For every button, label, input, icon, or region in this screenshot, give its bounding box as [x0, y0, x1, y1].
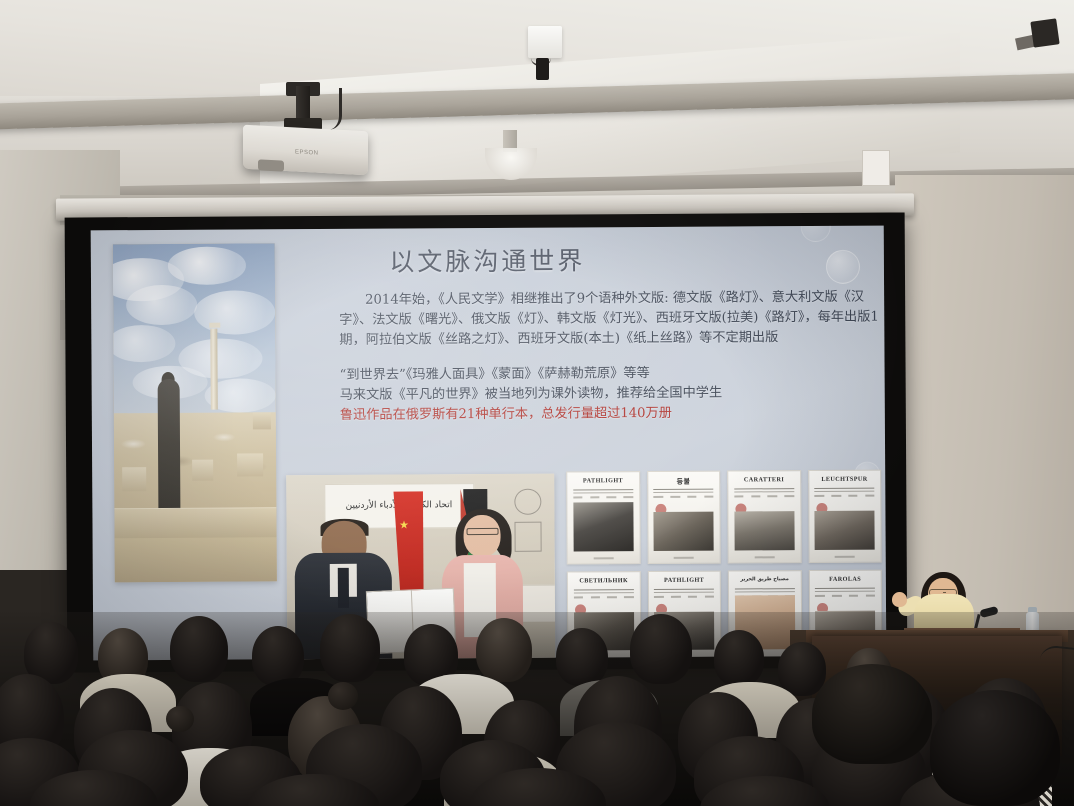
magazine-title: СВЕТИЛЬНИК: [568, 577, 640, 584]
audience-head: [778, 642, 826, 696]
magazine-rule: [654, 489, 714, 490]
magazine-footer-mark: [674, 556, 694, 558]
magazine-footer-mark: [754, 556, 774, 558]
audience-head: [170, 616, 228, 682]
magazine-cover-image: [573, 502, 633, 551]
magazine-rule: [815, 587, 875, 588]
magazine-meta-row: [574, 596, 634, 601]
magazine-rule: [815, 590, 875, 591]
magazine-rule: [573, 492, 633, 493]
slide-paragraph-1: 2014年始，《人民文学》相继推出了9个语种外文版: 德文版《路灯》、意大利文版…: [339, 288, 879, 351]
ruin-block: [237, 453, 263, 477]
archaeological-ruins-photo: [113, 243, 277, 582]
audience-head: [476, 618, 532, 682]
magazine-rule: [735, 588, 795, 589]
organization-logo-icon: [514, 488, 541, 514]
organization-emblem-icon: [514, 522, 541, 552]
projector-brand-label: EPSON: [295, 149, 319, 156]
audience-head: [930, 690, 1060, 806]
ceiling-camera-icon: [536, 58, 549, 80]
audience-head: [630, 614, 692, 684]
magazine-rule: [654, 492, 714, 493]
magazine-rule: [574, 592, 634, 593]
magazine-cover: LEUCHTSPUR: [808, 470, 882, 563]
magazine-title: FAROLAS: [809, 575, 881, 582]
hair-bun: [166, 706, 194, 732]
wall-right: [895, 175, 1074, 635]
ceiling-sensor-box: [528, 26, 562, 58]
magazine-rule: [734, 491, 794, 492]
magazine-rule: [815, 488, 875, 489]
magazine-footer-mark: [593, 557, 613, 559]
magazine-meta-row: [654, 595, 714, 600]
stone-ledge: [114, 507, 276, 538]
audience-head: [812, 664, 932, 764]
audience-head: [714, 630, 764, 686]
magazine-rule: [815, 491, 875, 492]
china-flag-star-icon: ★: [399, 519, 409, 532]
magazine-meta-row: [815, 594, 875, 599]
audience-head: [252, 626, 304, 686]
magazine-rule: [735, 591, 795, 592]
magazine-rule: [654, 588, 714, 589]
slide-body-text: 2014年始，《人民文学》相继推出了9个语种外文版: 德文版《路灯》、意大利文版…: [339, 288, 880, 427]
slide-highlight-line: 鲁迅作品在俄罗斯有21种单行本，总发行量超过140万册: [340, 403, 880, 426]
audience-head: [556, 628, 608, 686]
ruin-block: [253, 412, 271, 429]
woman-glasses-icon: [466, 528, 498, 536]
cloud: [168, 247, 246, 285]
magazine-rule: [734, 488, 794, 489]
magazine-title: LEUCHTSPUR: [809, 476, 881, 483]
magazine-meta-row: [573, 496, 633, 501]
man-tie: [338, 567, 349, 608]
magazine-cover-image: [654, 512, 714, 551]
magazine-cover: CARATTERI: [727, 470, 801, 563]
magazine-title: مصباح طريق الحرير: [729, 576, 801, 582]
projector-lens: [258, 159, 284, 171]
lecture-hall-scene: EPSON 以文脉沟通世界: [0, 0, 1074, 806]
magazine-title: CARATTERI: [728, 476, 800, 483]
projector-mount-arm: [296, 86, 310, 122]
magazine-cover: 등불: [647, 471, 721, 564]
magazine-rule: [573, 489, 633, 490]
magazine-rule: [654, 591, 714, 592]
audience-head: [320, 614, 380, 682]
speaker-hand: [892, 592, 907, 607]
magazine-cover-image: [815, 511, 875, 550]
ruin-block: [192, 460, 213, 480]
magazine-rule: [574, 589, 634, 590]
magazine-cover: PATHLIGHT: [566, 471, 640, 564]
magazine-meta-row: [654, 496, 714, 501]
ceiling-corner-device: [1030, 18, 1059, 47]
magazine-title: PATHLIGHT: [648, 576, 720, 583]
magazine-meta-row: [734, 495, 794, 500]
magazine-title: 등불: [648, 477, 720, 487]
wall-plate: [862, 150, 890, 186]
magazine-title: PATHLIGHT: [567, 477, 639, 484]
projection-screen-frame: 以文脉沟通世界: [65, 212, 908, 672]
ruin-block: [122, 467, 146, 491]
hair-bun: [328, 682, 358, 710]
magazine-meta-row: [815, 495, 875, 500]
stone-ledge-front: [115, 537, 277, 582]
magazine-footer-mark: [835, 555, 855, 557]
woman-head: [463, 515, 501, 558]
projection-screen-surface: 以文脉沟通世界: [91, 226, 887, 661]
magazine-cover-image: [734, 511, 794, 550]
ruin-column: [210, 328, 217, 409]
